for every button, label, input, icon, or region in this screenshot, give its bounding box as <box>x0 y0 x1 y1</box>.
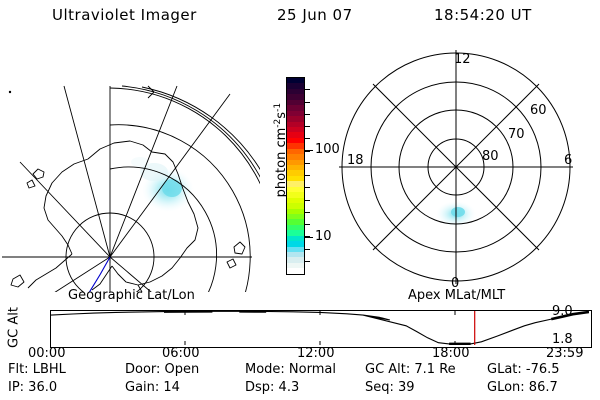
colorbar-unit-exp2: -1 <box>273 103 283 112</box>
orbit-altitude-panel[interactable]: GC Alt 9.0 1.8 00:00 06:00 12:00 18:00 2… <box>0 306 600 360</box>
colorbar-segment <box>287 268 304 273</box>
apex-panel-caption: Apex MLat/MLT <box>408 288 505 303</box>
apex-mlat-mlt-svg: 12 6 0 18 60 70 80 <box>330 42 598 294</box>
mlt-label-18: 18 <box>347 153 364 168</box>
page-title: Ultraviolet Imager <box>52 6 197 24</box>
colorbar-minor-tick <box>304 114 310 115</box>
status-field: Dsp: 4.3 <box>245 380 299 395</box>
status-block: Flt: LBHLDoor: OpenMode: NormalGC Alt: 7… <box>0 362 600 398</box>
orbit-xtick-0: 00:00 <box>28 346 65 361</box>
status-row: IP: 36.0Gain: 14Dsp: 4.3Seq: 39GLon: 86.… <box>0 380 600 398</box>
mlat-label-60: 60 <box>530 103 547 118</box>
mlt-label-6: 6 <box>564 153 572 168</box>
geographic-map-panel[interactable] <box>2 42 260 292</box>
colorbar-minor-tick <box>304 138 310 139</box>
colorbar-minor-tick <box>304 261 310 262</box>
tick-dot <box>9 91 11 93</box>
geographic-map-svg <box>2 42 260 292</box>
status-field: Mode: Normal <box>245 362 336 377</box>
colorbar-minor-tick <box>304 224 310 225</box>
colorbar-panel: photon cm-2s-1 10010 <box>258 44 330 294</box>
colorbar-gradient <box>286 77 305 275</box>
orbit-xtick-4: 23:59 <box>546 346 583 361</box>
orbit-xtick-1: 06:00 <box>162 346 199 361</box>
aurora-emission-patch <box>131 157 194 212</box>
colorbar-minor-tick <box>304 151 310 152</box>
colorbar-major-tick <box>304 237 313 238</box>
subsatellite-track-line <box>64 257 110 292</box>
orbit-trace-svg <box>51 311 589 345</box>
geographic-panel-caption: Geographic Lat/Lon <box>68 288 195 303</box>
mlt-spokes <box>339 50 573 284</box>
colorbar-minor-tick <box>304 175 310 176</box>
status-field: Seq: 39 <box>365 380 415 395</box>
mlat-label-70: 70 <box>508 127 525 142</box>
status-row: Flt: LBHLDoor: OpenMode: NormalGC Alt: 7… <box>0 362 600 380</box>
orbit-xtick-2: 12:00 <box>297 346 334 361</box>
status-field: IP: 36.0 <box>8 380 57 395</box>
colorbar-minor-tick <box>304 89 310 90</box>
orbit-y-axis-label: GC Alt <box>7 298 22 358</box>
orbit-x-ticks <box>185 311 455 345</box>
colorbar-minor-tick <box>304 249 310 250</box>
orbit-altitude-trace <box>51 311 589 344</box>
longitude-graticule <box>2 86 252 292</box>
status-field: Gain: 14 <box>125 380 180 395</box>
status-field: GLat: -76.5 <box>487 362 560 377</box>
mlat-label-80: 80 <box>482 149 499 164</box>
colorbar-major-tick <box>304 150 313 151</box>
mlt-label-12: 12 <box>454 52 471 67</box>
colorbar-minor-tick <box>304 102 310 103</box>
colorbar-minor-tick <box>304 212 310 213</box>
colorbar-unit-exp1: -2 <box>273 119 283 128</box>
orbit-plot-box <box>50 310 592 348</box>
orbit-data-interval <box>551 312 589 319</box>
orbit-data-intervals <box>164 311 589 344</box>
apex-mlat-mlt-panel[interactable]: 12 6 0 18 60 70 80 <box>330 42 598 294</box>
status-field: Flt: LBHL <box>8 362 66 377</box>
colorbar-minor-tick <box>304 163 310 164</box>
status-field: GLon: 86.7 <box>487 380 558 395</box>
status-field: GC Alt: 7.1 Re <box>365 362 456 377</box>
observation-date: 25 Jun 07 <box>277 6 353 24</box>
observation-time: 18:54:20 UT <box>434 6 532 24</box>
colorbar-minor-tick <box>304 200 310 201</box>
colorbar-minor-tick <box>304 187 310 188</box>
status-field: Door: Open <box>125 362 199 377</box>
orbit-xtick-3: 18:00 <box>432 346 469 361</box>
colorbar-minor-tick <box>304 126 310 127</box>
